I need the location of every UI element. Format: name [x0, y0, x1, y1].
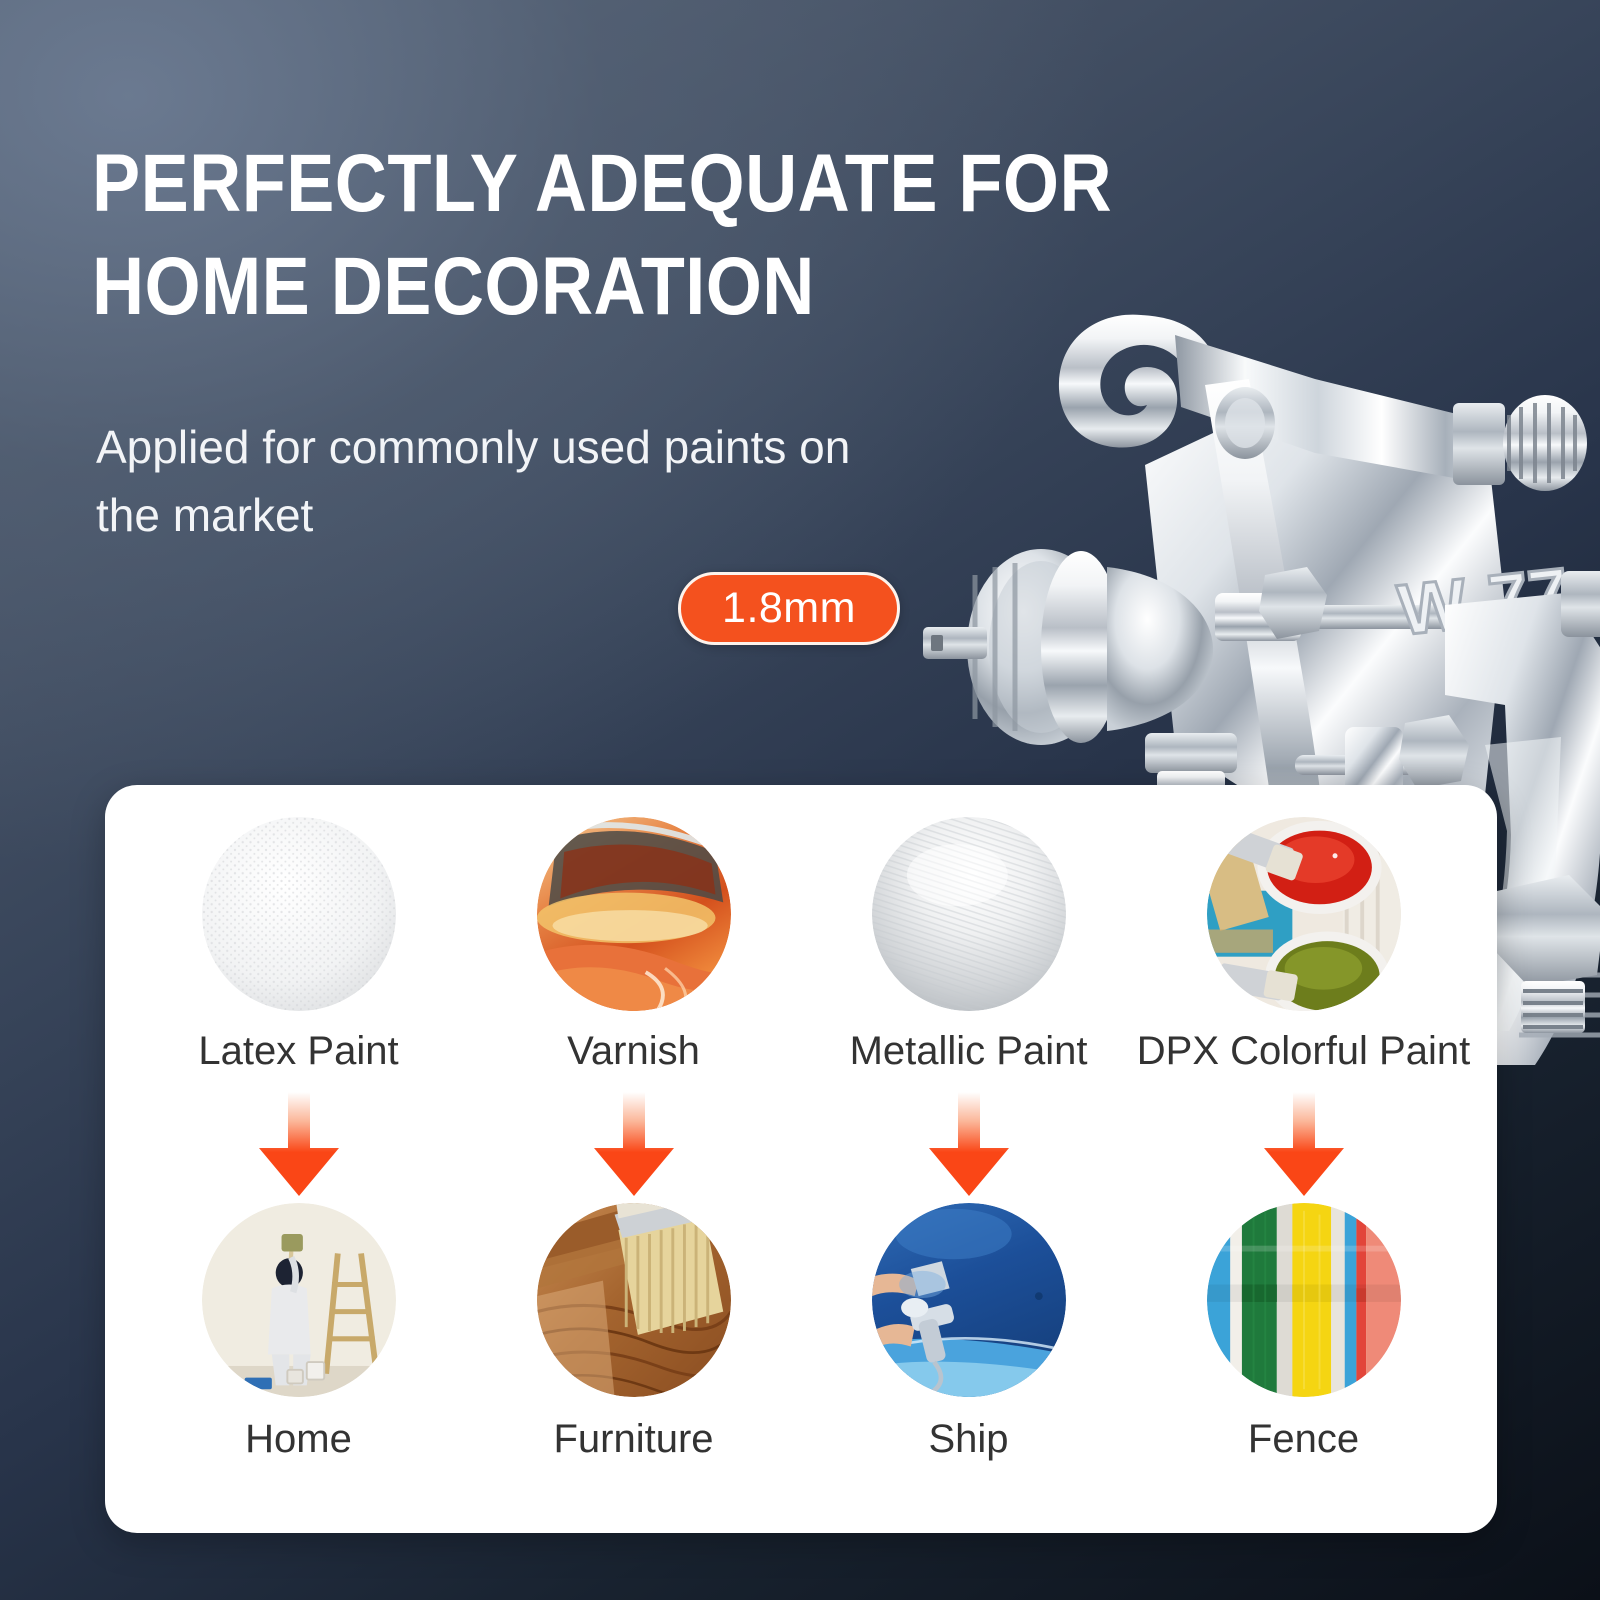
application-item-home: Home	[131, 1203, 466, 1465]
dpx-colorful-paint-swatch-icon	[1207, 817, 1401, 1011]
down-arrow-icon	[1256, 1092, 1352, 1196]
arrow-cell	[131, 1085, 466, 1203]
paint-label: Latex Paint	[198, 1027, 398, 1075]
furniture-brush-photo-icon	[537, 1203, 731, 1397]
application-label: Ship	[928, 1415, 1008, 1463]
fence-pickets-photo-icon	[1207, 1203, 1401, 1397]
arrow-cell	[801, 1085, 1136, 1203]
application-label: Fence	[1248, 1415, 1359, 1463]
arrow-cell	[1136, 1085, 1471, 1203]
arrow-cell	[466, 1085, 801, 1203]
paint-label: Varnish	[567, 1027, 700, 1075]
down-arrow-icon	[921, 1092, 1017, 1196]
metallic-paint-swatch-icon	[872, 817, 1066, 1011]
varnish-swatch-icon	[537, 817, 731, 1011]
badge-label: 1.8mm	[722, 584, 856, 633]
application-item-ship: Ship	[801, 1203, 1136, 1465]
ship-spray-photo-icon	[872, 1203, 1066, 1397]
application-item-fence: Fence	[1136, 1203, 1471, 1465]
paint-item-varnish: Varnish	[466, 817, 801, 1085]
paint-item-dpx: DPX Colorful Paint	[1136, 817, 1471, 1085]
paint-item-metallic: Metallic Paint	[801, 817, 1136, 1085]
latex-paint-swatch-icon	[202, 817, 396, 1011]
product-poster: PERFECTLY ADEQUATE FOR HOME DECORATION A…	[0, 0, 1600, 1600]
paint-item-latex: Latex Paint	[131, 817, 466, 1085]
applications-grid: Latex Paint	[105, 785, 1497, 1533]
page-subtitle: Applied for commonly used paints on the …	[96, 413, 876, 549]
application-label: Furniture	[553, 1415, 713, 1463]
down-arrow-icon	[586, 1092, 682, 1196]
status-badge: 1.8mm	[678, 572, 900, 645]
model-marking: W-77	[1394, 554, 1572, 651]
application-label: Home	[245, 1415, 352, 1463]
paint-label: Metallic Paint	[850, 1027, 1088, 1075]
paint-label: DPX Colorful Paint	[1137, 1027, 1470, 1075]
home-painting-photo-icon	[202, 1203, 396, 1397]
page-title: PERFECTLY ADEQUATE FOR HOME DECORATION	[92, 132, 1262, 339]
application-item-furniture: Furniture	[466, 1203, 801, 1465]
applications-card: Latex Paint	[105, 785, 1497, 1533]
down-arrow-icon	[251, 1092, 347, 1196]
